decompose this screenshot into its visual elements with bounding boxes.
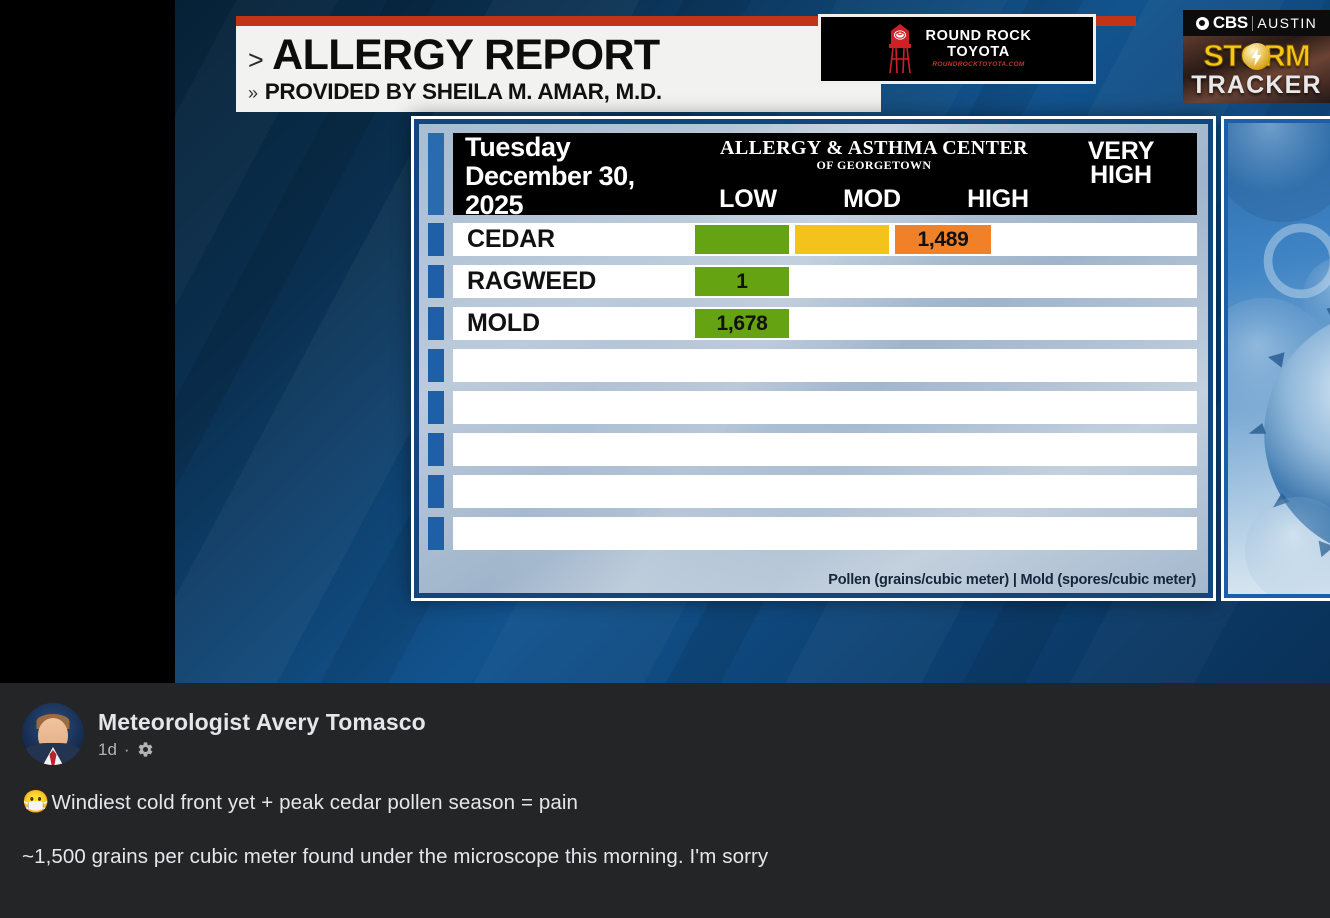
chevron-right-icon: > — [248, 47, 263, 74]
row-tab-marker — [428, 265, 444, 298]
level-bar-low: 1,678 — [695, 309, 789, 338]
level-bar-mod — [795, 225, 889, 254]
page-subtitle: PROVIDED BY SHEILA M. AMAR, M.D. — [265, 81, 662, 104]
avatar[interactable] — [22, 703, 84, 765]
allergen-row-empty — [428, 475, 1197, 508]
gear-icon[interactable] — [137, 741, 154, 758]
allergen-row-body — [453, 475, 1197, 508]
row-tab-marker — [428, 349, 444, 382]
broadcast-graphic: > ALLERGY REPORT » PROVIDED BY SHEILA M.… — [175, 0, 1330, 683]
row-tab-marker — [428, 433, 444, 466]
allergen-row-empty — [428, 517, 1197, 550]
sponsor-line-1: ROUND ROCK — [926, 29, 1032, 44]
allergen-row-body — [453, 349, 1197, 382]
report-date-full: December 30, 2025 — [465, 162, 685, 220]
clinic-branding: ALLERGY & ASTHMA CENTER OF GEORGETOWN — [691, 137, 1057, 173]
post-metadata: 1d · — [98, 740, 426, 760]
allergen-row-body: RAGWEED1 — [453, 265, 1197, 298]
social-post: Meteorologist Avery Tomasco 1d · 😷Windie… — [0, 683, 1330, 918]
clinic-location: OF GEORGETOWN — [691, 158, 1057, 173]
allergen-row-body: CEDAR1,489 — [453, 223, 1197, 256]
post-line-1-text: Windiest cold front yet + peak cedar pol… — [52, 791, 579, 814]
post-line-blank — [22, 817, 1308, 843]
letterbox-left — [0, 0, 175, 683]
header-tab-marker — [428, 133, 444, 215]
allergen-name: CEDAR — [453, 225, 683, 254]
row-tab-marker — [428, 223, 444, 256]
page-title: ALLERGY REPORT — [272, 34, 659, 77]
allergen-value: 1 — [736, 270, 747, 294]
allergen-level-bars: 1,678 — [695, 309, 1197, 338]
allergen-value: 1,678 — [716, 312, 767, 336]
allergen-value: 1,489 — [917, 228, 968, 252]
allergen-level-bars: 1,489 — [695, 225, 1197, 254]
post-author-name[interactable]: Meteorologist Avery Tomasco — [98, 709, 426, 736]
sponsor-logo: ROUND ROCK TOYOTA ROUNDROCKTOYOTA.COM — [818, 14, 1096, 84]
title-plate: > ALLERGY REPORT » PROVIDED BY SHEILA M.… — [236, 26, 881, 112]
column-header-high: HIGH — [935, 188, 1061, 212]
post-header: Meteorologist Avery Tomasco 1d · — [22, 703, 1308, 765]
column-header-mod: MOD — [809, 188, 935, 212]
pollen-image-panel — [1221, 116, 1330, 601]
chart-footnote: Pollen (grains/cubic meter) | Mold (spor… — [828, 572, 1196, 588]
row-tab-marker — [428, 517, 444, 550]
pollen-grain-microscope-image — [1228, 123, 1330, 594]
post-line-1: 😷Windiest cold front yet + peak cedar po… — [22, 787, 1308, 817]
row-tab-marker — [428, 307, 444, 340]
logo-divider — [1252, 16, 1254, 31]
allergen-name: RAGWEED — [453, 267, 683, 296]
level-bar-low — [695, 225, 789, 254]
allergen-name: MOLD — [453, 309, 683, 338]
row-tab-marker — [428, 391, 444, 424]
video-player[interactable]: > ALLERGY REPORT » PROVIDED BY SHEILA M.… — [0, 0, 1330, 683]
water-tower-toyota-icon — [883, 23, 917, 75]
allergen-row-empty — [428, 349, 1197, 382]
mask-face-emoji: 😷 — [22, 789, 50, 814]
allergen-row: RAGWEED1 — [428, 265, 1197, 298]
station-logo: CBS AUSTIN STORM TRACKER — [1183, 10, 1330, 103]
severity-column-headers: LOW MOD HIGH VERY HIGH — [685, 177, 1197, 211]
level-bar-low: 1 — [695, 267, 789, 296]
allergen-rows: CEDAR1,489RAGWEED1MOLD1,678 — [428, 223, 1197, 550]
clinic-name: ALLERGY & ASTHMA CENTER — [691, 137, 1057, 160]
post-body: 😷Windiest cold front yet + peak cedar po… — [22, 787, 1308, 872]
column-header-very-high: VERY HIGH — [1061, 164, 1181, 211]
cbs-eye-icon — [1196, 17, 1209, 30]
allergen-row-body — [453, 517, 1197, 550]
lightning-bolt-icon — [1243, 43, 1270, 70]
allergen-level-bars: 1 — [695, 267, 1197, 296]
allergen-row-body — [453, 433, 1197, 466]
network-name: CBS — [1213, 13, 1248, 33]
chevron-double-right-icon: » — [248, 84, 258, 102]
allergen-row-body — [453, 391, 1197, 424]
pollen-grains-illustration — [1228, 123, 1330, 594]
brand-tracker: TRACKER — [1183, 71, 1330, 100]
metadata-separator: · — [124, 740, 130, 760]
sponsor-url: ROUNDROCKTOYOTA.COM — [926, 62, 1032, 69]
market-name: AUSTIN — [1257, 15, 1317, 31]
column-header-very: VERY — [1061, 140, 1181, 164]
post-line-2: ~1,500 grains per cubic meter found unde… — [22, 843, 1308, 871]
chart-header: Tuesday December 30, 2025 ALLERGY & ASTH… — [428, 133, 1197, 215]
allergen-row-empty — [428, 391, 1197, 424]
post-timestamp[interactable]: 1d — [98, 740, 117, 760]
allergen-row: CEDAR1,489 — [428, 223, 1197, 256]
row-tab-marker — [428, 475, 444, 508]
allergy-chart-panel: Tuesday December 30, 2025 ALLERGY & ASTH… — [411, 116, 1216, 601]
report-weekday: Tuesday — [465, 133, 685, 162]
column-header-high-2: HIGH — [1061, 164, 1181, 188]
allergen-row-body: MOLD1,678 — [453, 307, 1197, 340]
sponsor-line-2: TOYOTA — [926, 45, 1032, 60]
screen: > ALLERGY REPORT » PROVIDED BY SHEILA M.… — [0, 0, 1330, 918]
level-bar-high: 1,489 — [895, 225, 991, 254]
lower-third-title: > ALLERGY REPORT » PROVIDED BY SHEILA M.… — [236, 16, 1330, 112]
allergen-row: MOLD1,678 — [428, 307, 1197, 340]
allergen-row-empty — [428, 433, 1197, 466]
column-header-low: LOW — [687, 188, 809, 212]
report-date: Tuesday December 30, 2025 — [453, 133, 685, 215]
